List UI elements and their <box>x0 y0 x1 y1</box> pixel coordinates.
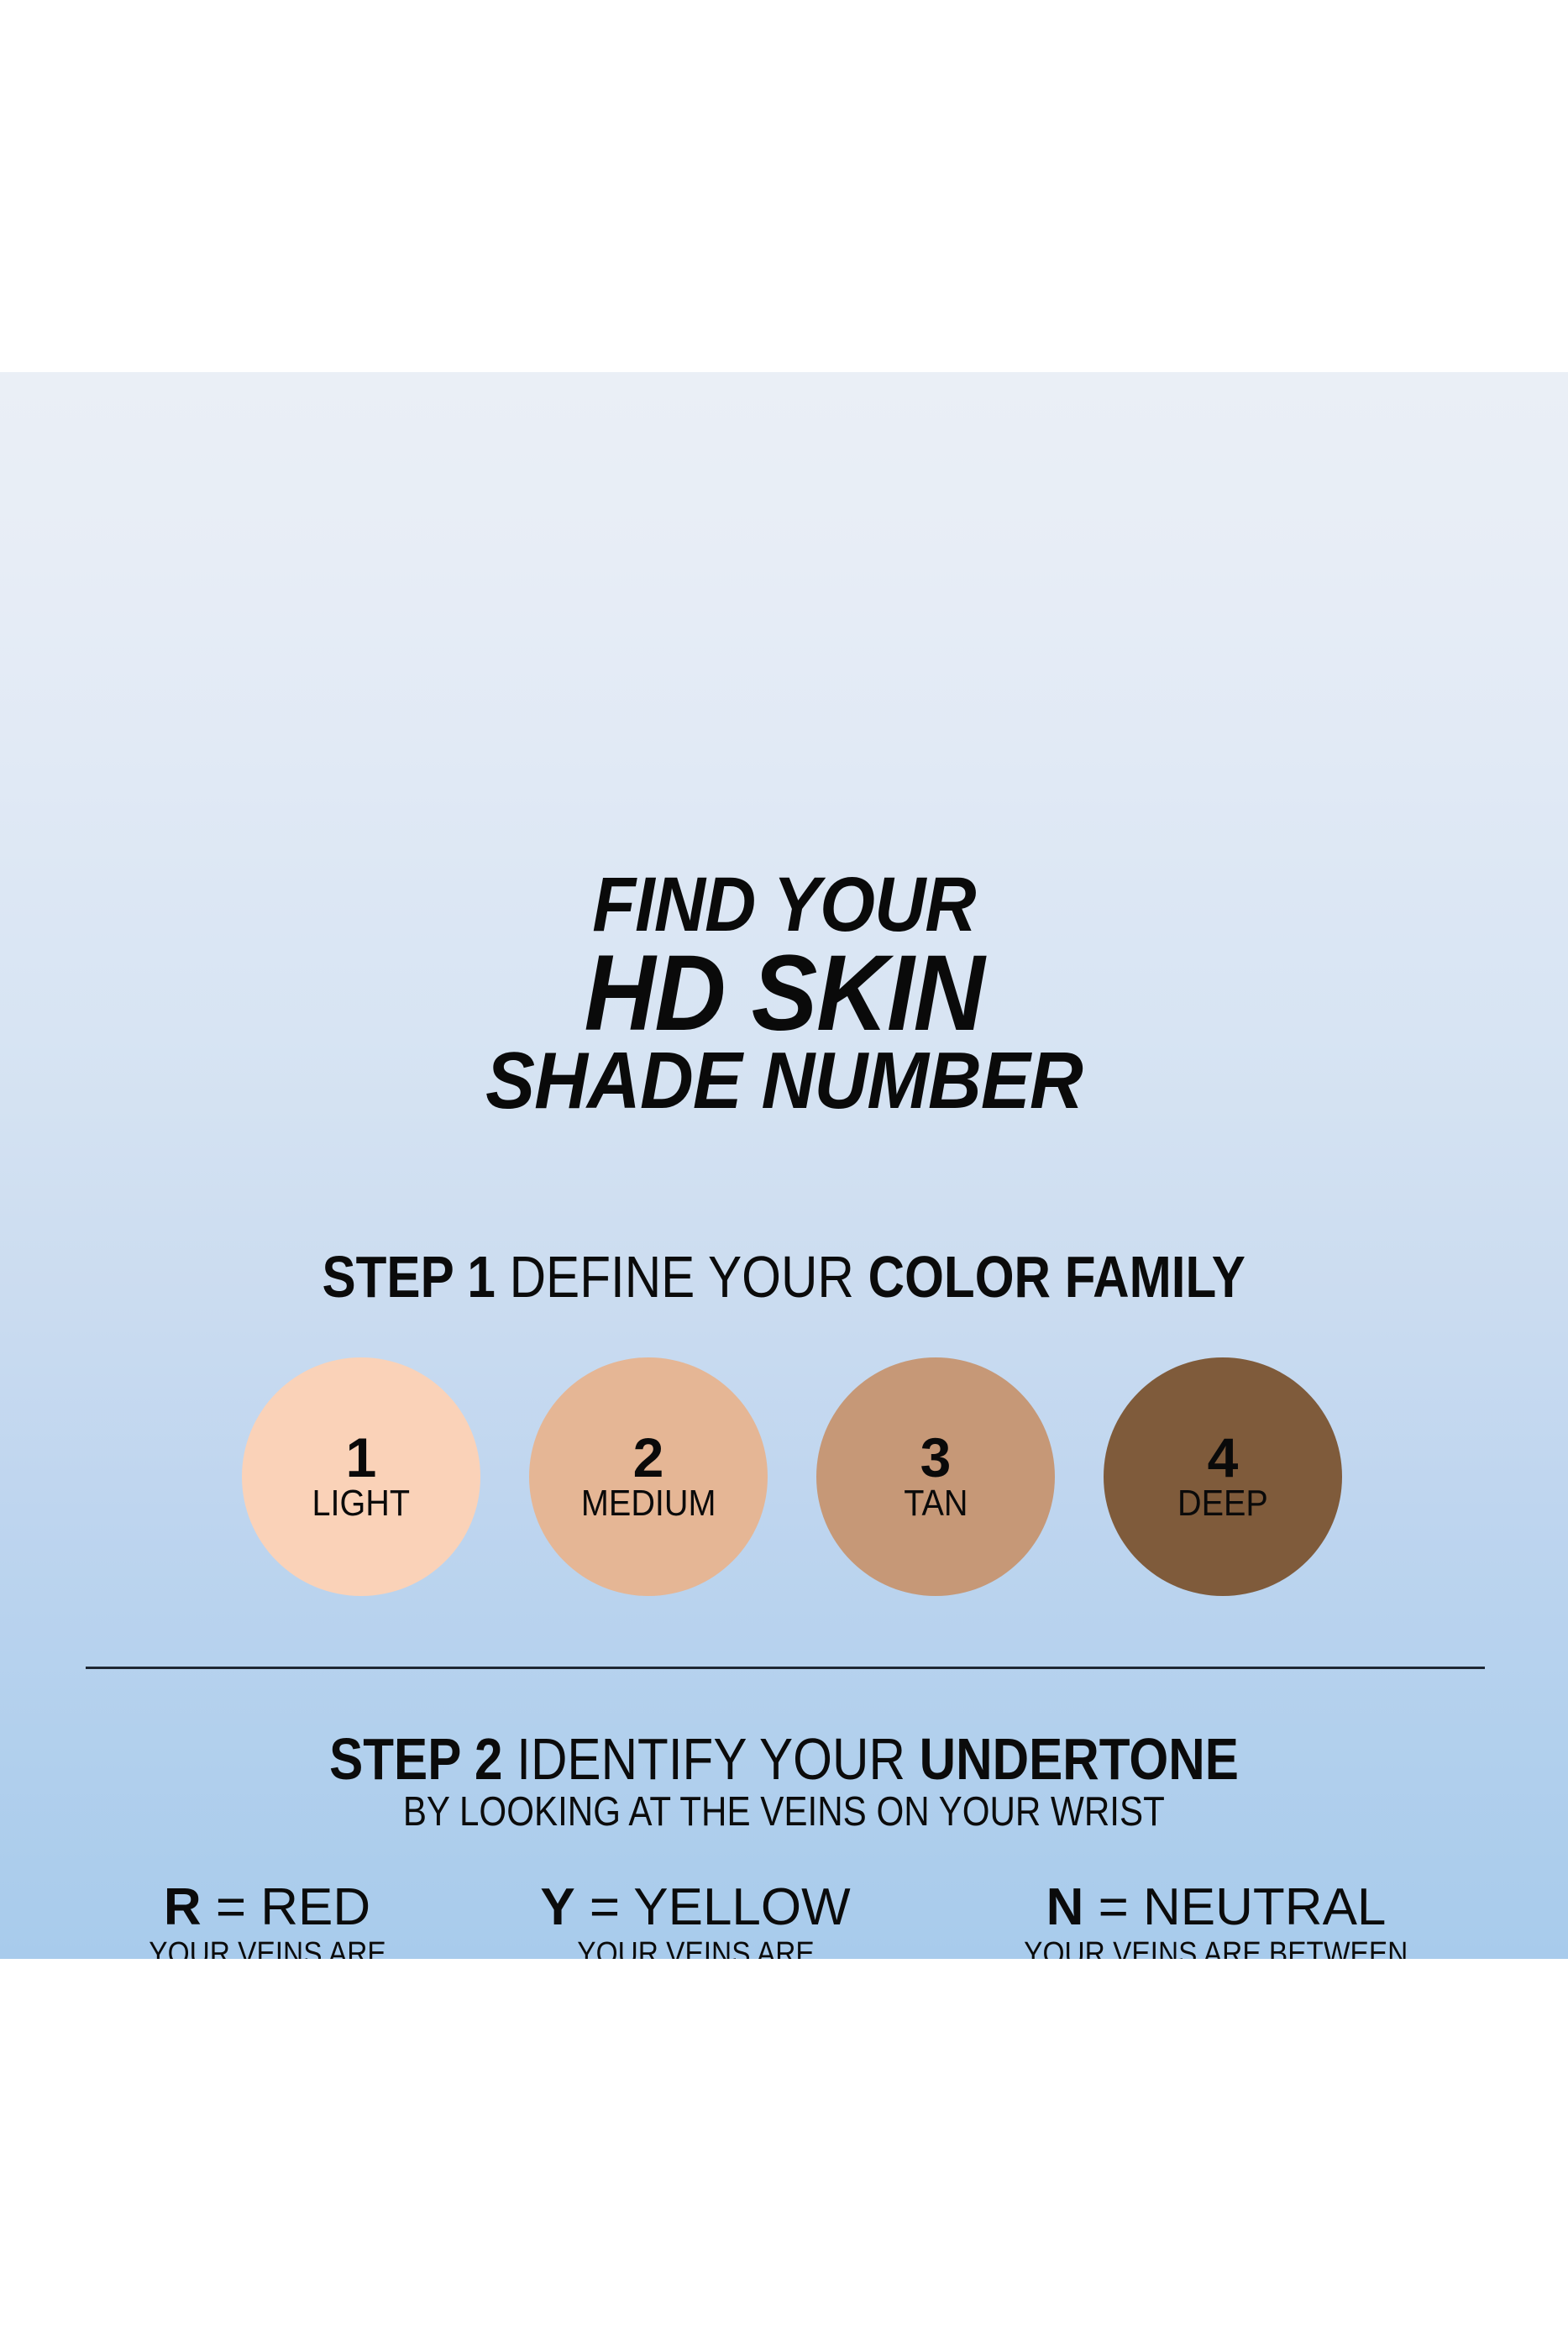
undertone-key-letter: Y <box>540 1878 574 1936</box>
undertone-options-row: R = RED YOUR VEINS ARE BLUE Y = YELLOW Y… <box>99 1880 1476 1959</box>
undertone-description-wrap: YOUR VEINS ARE <box>515 1935 876 1959</box>
shade-swatch-number: 3 <box>920 1431 952 1484</box>
undertone-option-neutral[interactable]: N = NEUTRAL YOUR VEINS ARE BETWEEN BLUE … <box>956 1880 1476 1959</box>
shade-swatch-2-medium[interactable]: 2 MEDIUM <box>529 1357 768 1596</box>
headline-line-2: HD SKIN <box>63 940 1506 1047</box>
shade-swatch-number: 1 <box>346 1431 377 1484</box>
undertone-description: YOUR VEINS ARE BETWEEN <box>1024 1938 1408 1959</box>
undertone-option-yellow[interactable]: Y = YELLOW YOUR VEINS ARE GREEN <box>515 1880 876 1959</box>
headline-line-1: FIND YOUR <box>63 866 1506 943</box>
step-1-emphasis-text: COLOR FAMILY <box>868 1244 1245 1310</box>
undertone-description: YOUR VEINS ARE <box>149 1938 385 1959</box>
undertone-description-wrap: YOUR VEINS ARE BETWEEN <box>956 1935 1476 1959</box>
step-1-heading: STEP 1 DEFINE YOUR COLOR FAMILY <box>0 1247 1568 1306</box>
shade-finder-infographic-panel: FIND YOUR HD SKIN SHADE NUMBER STEP 1 DE… <box>0 372 1568 1959</box>
undertone-title: R = RED <box>99 1880 435 1935</box>
step-1-label: STEP 1 <box>323 1244 496 1310</box>
step-2-heading: STEP 2 IDENTIFY YOUR UNDERTONE <box>0 1730 1568 1788</box>
shade-swatch-label: LIGHT <box>312 1485 411 1522</box>
page-root: FIND YOUR HD SKIN SHADE NUMBER STEP 1 DE… <box>0 0 1568 2352</box>
shade-family-swatch-row: 1 LIGHT 2 MEDIUM 3 TAN 4 DEEP <box>242 1357 1342 1596</box>
undertone-equals-text: = RED <box>216 1878 370 1936</box>
undertone-title: Y = YELLOW <box>515 1880 876 1935</box>
undertone-title: N = NEUTRAL <box>956 1880 1476 1935</box>
undertone-key-letter: R <box>164 1878 202 1936</box>
shade-swatch-label: MEDIUM <box>581 1485 716 1522</box>
shade-swatch-label: TAN <box>904 1485 968 1522</box>
shade-swatch-4-deep[interactable]: 4 DEEP <box>1104 1357 1342 1596</box>
shade-swatch-label: DEEP <box>1177 1485 1268 1522</box>
step-2-emphasis-text: UNDERTONE <box>920 1726 1239 1792</box>
section-divider-1 <box>86 1667 1485 1669</box>
undertone-description: YOUR VEINS ARE <box>577 1938 814 1959</box>
shade-swatch-number: 4 <box>1208 1431 1239 1484</box>
shade-swatch-1-light[interactable]: 1 LIGHT <box>242 1357 480 1596</box>
undertone-option-red[interactable]: R = RED YOUR VEINS ARE BLUE <box>99 1880 435 1959</box>
undertone-description-wrap: YOUR VEINS ARE <box>99 1935 435 1959</box>
undertone-key-letter: N <box>1046 1878 1084 1936</box>
undertone-equals-text: = NEUTRAL <box>1099 1878 1387 1936</box>
undertone-equals-text: = YELLOW <box>590 1878 851 1936</box>
step-2-label: STEP 2 <box>329 1726 502 1792</box>
shade-swatch-3-tan[interactable]: 3 TAN <box>816 1357 1055 1596</box>
step-1-middle-text: DEFINE YOUR <box>510 1244 854 1310</box>
step-2-middle-text: IDENTIFY YOUR <box>517 1726 905 1792</box>
headline-line-3: SHADE NUMBER <box>63 1041 1506 1121</box>
shade-swatch-number: 2 <box>633 1431 664 1484</box>
step-2-subtitle: BY LOOKING AT THE VEINS ON YOUR WRIST <box>0 1792 1568 1833</box>
step-2-subtitle-text: BY LOOKING AT THE VEINS ON YOUR WRIST <box>403 1792 1165 1833</box>
